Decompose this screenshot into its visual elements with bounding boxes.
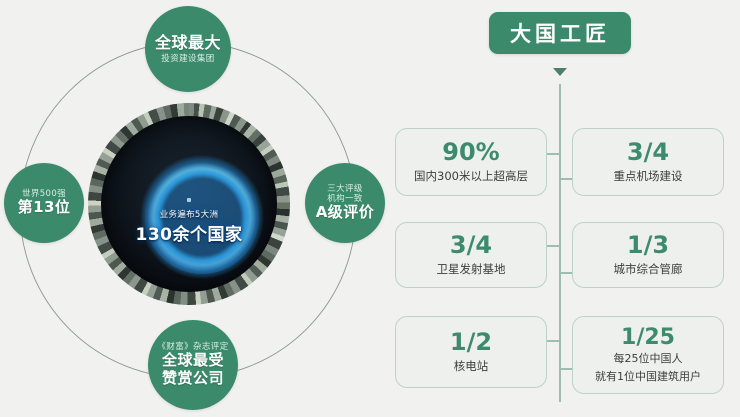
globe-graphic: 业务遍布5大洲 130余个国家 xyxy=(88,103,290,305)
bubble-most-admired[interactable]: 《财富》杂志评定 全球最受 赞赏公司 xyxy=(148,320,238,410)
orbit-diagram-panel: 业务遍布5大洲 130余个国家 全球最大 投资建设集团 世界500强 第13位 … xyxy=(0,0,380,417)
bubble-credit-rating[interactable]: 三大评级 机构一致 A级评价 xyxy=(305,163,385,243)
bubble-fortune-rank[interactable]: 世界500强 第13位 xyxy=(4,163,84,243)
stat-card[interactable]: 1/3 城市综合管廊 xyxy=(572,222,724,288)
bubble-right-sub: 三大评级 xyxy=(327,184,363,194)
branch-connector xyxy=(547,245,560,247)
globe-dark-sphere: 业务遍布5大洲 130余个国家 xyxy=(101,116,277,292)
stat-card[interactable]: 1/25 每25位中国人 就有1位中国建筑用户 xyxy=(572,316,724,394)
stat-value: 3/4 xyxy=(450,233,492,258)
stat-value: 1/2 xyxy=(450,330,492,355)
branch-connector xyxy=(547,153,560,155)
infographic-stage: 业务遍布5大洲 130余个国家 全球最大 投资建设集团 世界500强 第13位 … xyxy=(0,0,740,417)
globe-subtitle: 业务遍布5大洲 xyxy=(101,208,277,220)
stat-value: 90% xyxy=(442,140,499,165)
stat-card[interactable]: 90% 国内300米以上超高层 xyxy=(395,128,547,196)
panel-title-badge: 大国工匠 xyxy=(489,12,631,54)
tree-spine xyxy=(559,84,561,402)
stat-label: 卫星发射基地 xyxy=(437,262,506,277)
stat-card[interactable]: 3/4 重点机场建设 xyxy=(572,128,724,196)
spine-arrow-icon xyxy=(553,68,567,76)
stat-label: 城市综合管廊 xyxy=(614,262,683,277)
stat-value: 1/25 xyxy=(621,326,675,349)
stat-value: 1/3 xyxy=(627,233,669,258)
stat-label: 核电站 xyxy=(454,359,489,374)
bubble-bottom-main: 全球最受 xyxy=(162,352,224,370)
stat-value: 3/4 xyxy=(627,140,669,165)
stat-label-line2: 就有1位中国建筑用户 xyxy=(595,370,701,384)
bubble-top-main: 全球最大 xyxy=(155,34,221,53)
bubble-top-sub: 投资建设集团 xyxy=(161,54,214,64)
stat-label: 国内300米以上超高层 xyxy=(414,169,528,184)
bubble-bottom-main2: 赞赏公司 xyxy=(162,370,224,388)
stat-card[interactable]: 3/4 卫星发射基地 xyxy=(395,222,547,288)
globe-headline: 130余个国家 xyxy=(101,220,277,245)
bubble-largest-group[interactable]: 全球最大 投资建设集团 xyxy=(145,6,231,92)
stat-card[interactable]: 1/2 核电站 xyxy=(395,316,547,388)
bubble-left-main: 第13位 xyxy=(18,199,71,217)
branch-connector xyxy=(547,340,560,342)
globe-center-text: 业务遍布5大洲 130余个国家 xyxy=(101,208,277,245)
bubble-right-main: A级评价 xyxy=(316,204,375,222)
stats-tree-panel: 大国工匠 90% 国内300米以上超高层 3/4 重点机场建设 3/4 卫星发射… xyxy=(380,0,740,417)
stat-label: 每25位中国人 xyxy=(614,352,683,366)
stat-label: 重点机场建设 xyxy=(614,169,683,184)
globe-marker-dot xyxy=(187,198,191,202)
